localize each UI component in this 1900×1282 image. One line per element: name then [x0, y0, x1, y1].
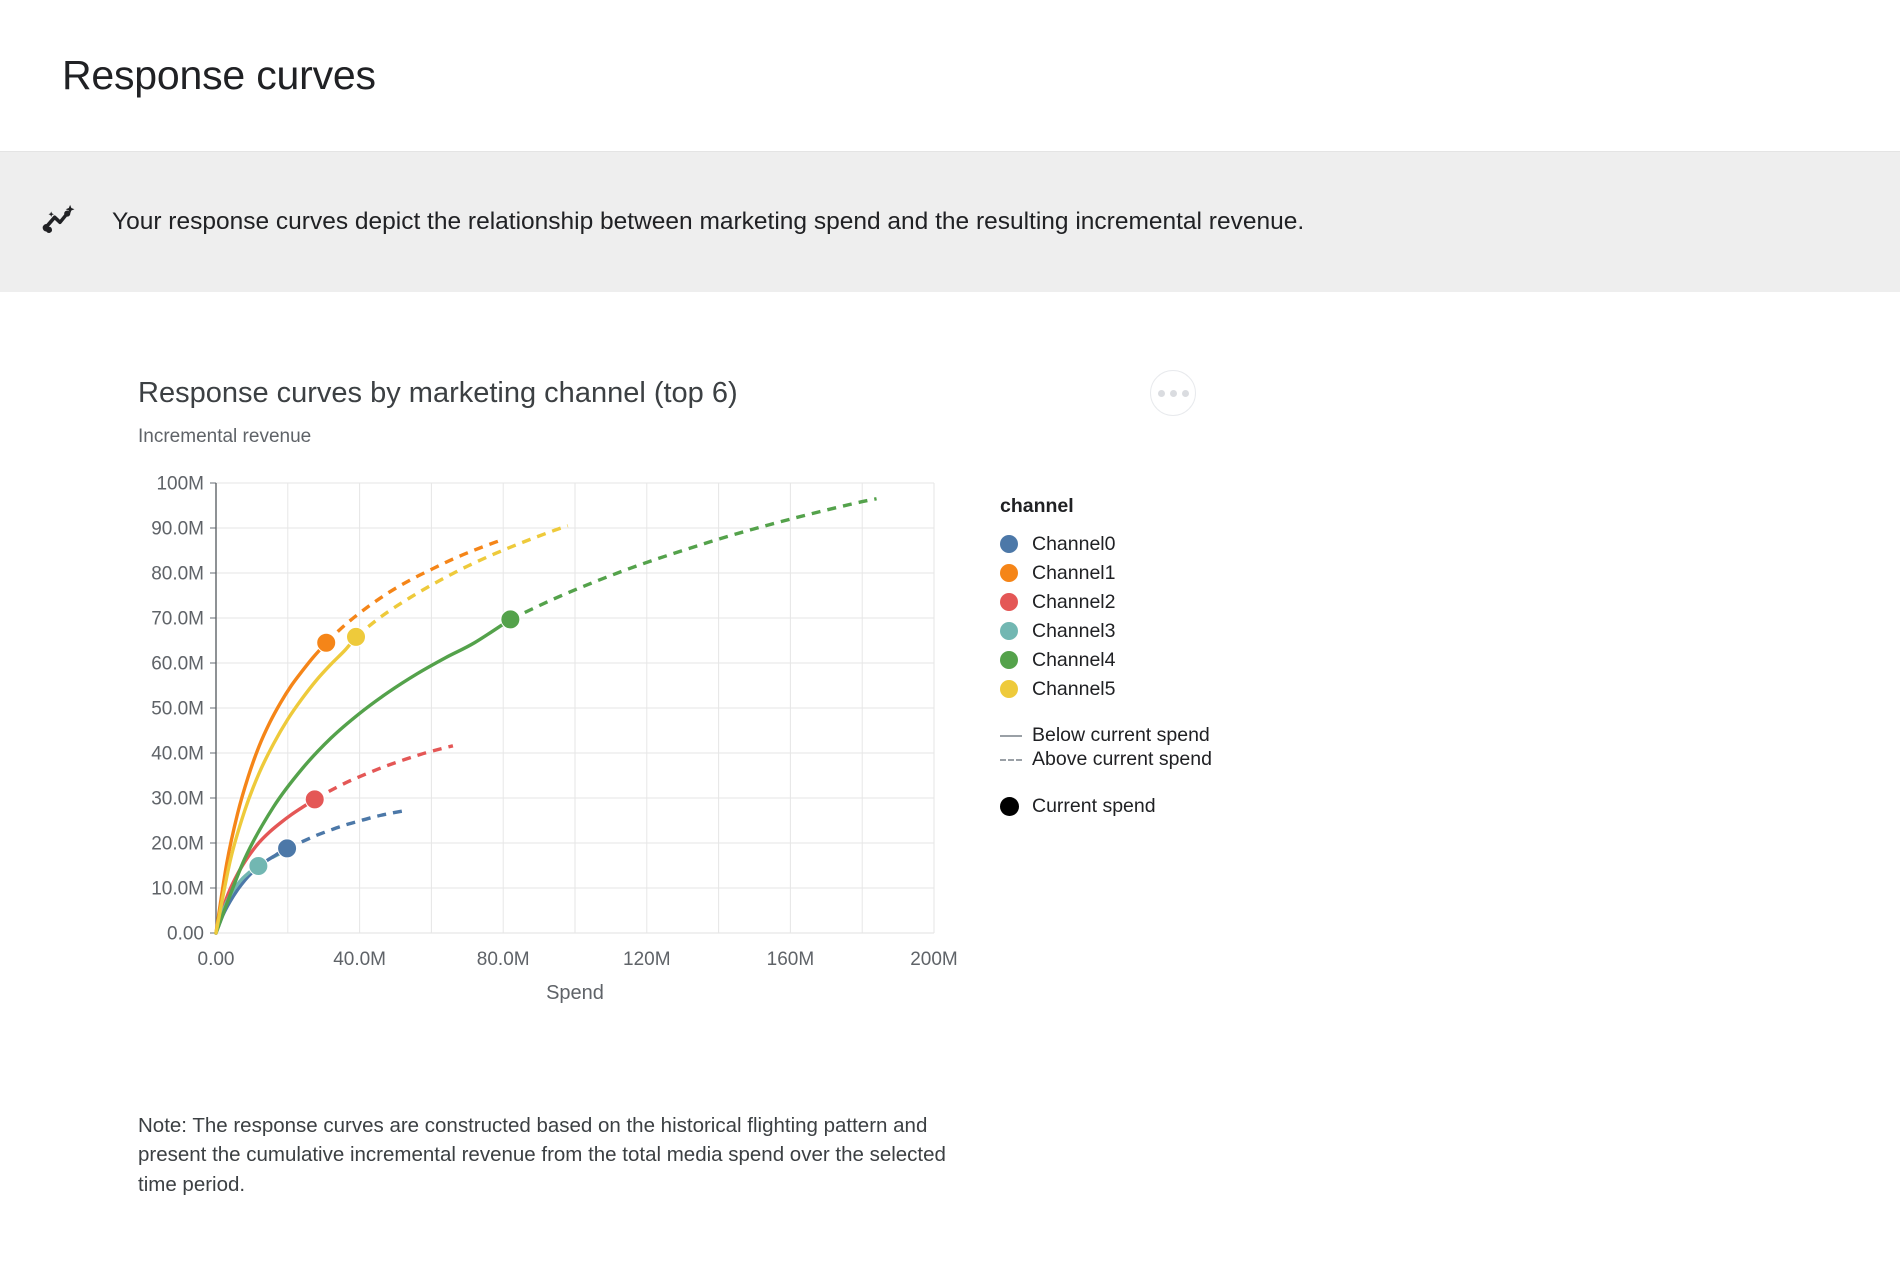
y-axis-tick-label: 80.0M — [151, 563, 204, 584]
chart-note: Note: The response curves are constructe… — [138, 1111, 958, 1200]
chart-subtitle: Incremental revenue — [138, 426, 738, 449]
legend-style-list: Below current spendAbove current spend — [1000, 724, 1250, 772]
insight-banner-text: Your response curves depict the relation… — [112, 205, 1304, 239]
y-axis-tick-label: 100M — [156, 473, 204, 494]
curve-above-spend-channel1 — [326, 539, 503, 642]
curve-above-spend-channel4 — [510, 498, 876, 619]
y-axis-tick-label: 20.0M — [151, 833, 204, 854]
auto-insight-sparkle-chart-icon — [38, 199, 84, 245]
legend-item-channel0[interactable]: Channel0 — [1000, 530, 1250, 559]
current-spend-marker-channel4[interactable] — [501, 609, 520, 628]
legend-title: channel — [1000, 495, 1250, 518]
x-axis-title: Spend — [546, 982, 604, 1004]
curve-above-spend-channel2 — [315, 745, 453, 799]
dashed-line-icon — [1000, 759, 1022, 761]
legend-label: Channel0 — [1032, 533, 1115, 556]
legend-item-channel2[interactable]: Channel2 — [1000, 588, 1250, 617]
more-dot-2 — [1170, 390, 1177, 397]
x-axis-tick-label: 160M — [767, 949, 815, 970]
chart-legend: channel Channel0Channel1Channel2Channel3… — [1000, 495, 1250, 821]
x-axis-tick-label: 80.0M — [477, 949, 530, 970]
page-header: Response curves — [0, 0, 1900, 152]
response-curves-page: Response curves Your response curves dep… — [0, 0, 1900, 1282]
more-dot-1 — [1158, 390, 1165, 397]
current-spend-marker-channel3[interactable] — [249, 856, 268, 875]
legend-item-current-spend[interactable]: Current spend — [1000, 792, 1250, 821]
legend-label: Channel5 — [1032, 678, 1115, 701]
legend-item-solid-line[interactable]: Below current spend — [1000, 724, 1250, 748]
legend-item-channel5[interactable]: Channel5 — [1000, 675, 1250, 704]
legend-swatch-icon — [1000, 680, 1018, 698]
more-options-button[interactable] — [1150, 370, 1196, 416]
y-axis-tick-label: 30.0M — [151, 788, 204, 809]
y-axis-tick-label: 60.0M — [151, 653, 204, 674]
page-title: Response curves — [62, 53, 376, 98]
more-dot-3 — [1182, 390, 1189, 397]
legend-label: Channel1 — [1032, 562, 1115, 585]
legend-label: Below current spend — [1032, 724, 1210, 747]
x-axis-tick-label: 0.00 — [198, 949, 235, 970]
legend-channel-list: Channel0Channel1Channel2Channel3Channel4… — [1000, 530, 1250, 704]
curve-above-spend-channel5 — [356, 525, 568, 636]
insight-banner: Your response curves depict the relation… — [0, 152, 1900, 292]
legend-label: Channel2 — [1032, 591, 1115, 614]
legend-item-channel3[interactable]: Channel3 — [1000, 617, 1250, 646]
x-axis-tick-label: 40.0M — [333, 949, 386, 970]
y-axis-tick-label: 40.0M — [151, 743, 204, 764]
legend-label: Above current spend — [1032, 748, 1212, 771]
legend-swatch-icon — [1000, 593, 1018, 611]
legend-swatch-icon — [1000, 564, 1018, 582]
y-axis-tick-label: 0.00 — [167, 923, 204, 944]
legend-swatch-icon — [1000, 622, 1018, 640]
legend-spacer-2 — [1000, 772, 1250, 792]
legend-item-channel4[interactable]: Channel4 — [1000, 646, 1250, 675]
legend-swatch-icon — [1000, 651, 1018, 669]
legend-swatch-icon — [1000, 535, 1018, 553]
chart-card-header: Response curves by marketing channel (to… — [138, 376, 1258, 449]
legend-spacer-1 — [1000, 704, 1250, 724]
chart-plot-area: 0.0010.0M20.0M30.0M40.0M50.0M60.0M70.0M8… — [138, 471, 1258, 1081]
legend-label: Channel4 — [1032, 649, 1115, 672]
y-axis-tick-label: 70.0M — [151, 608, 204, 629]
legend-item-dashed-line[interactable]: Above current spend — [1000, 748, 1250, 772]
legend-item-channel1[interactable]: Channel1 — [1000, 559, 1250, 588]
legend-label: Channel3 — [1032, 620, 1115, 643]
x-axis-tick-label: 120M — [623, 949, 671, 970]
legend-label-current-spend: Current spend — [1032, 795, 1156, 818]
chart-title: Response curves by marketing channel (to… — [138, 376, 738, 411]
response-curves-chart-card: Response curves by marketing channel (to… — [138, 376, 1258, 1199]
current-spend-marker-channel1[interactable] — [317, 633, 336, 652]
solid-line-icon — [1000, 735, 1022, 737]
current-spend-marker-icon — [1000, 797, 1019, 816]
y-axis-tick-label: 90.0M — [151, 518, 204, 539]
current-spend-marker-channel0[interactable] — [278, 838, 297, 857]
current-spend-marker-channel2[interactable] — [305, 789, 324, 808]
current-spend-marker-channel5[interactable] — [347, 627, 366, 646]
x-axis-tick-label: 200M — [910, 949, 958, 970]
y-axis-tick-label: 50.0M — [151, 698, 204, 719]
y-axis-tick-label: 10.0M — [151, 878, 204, 899]
